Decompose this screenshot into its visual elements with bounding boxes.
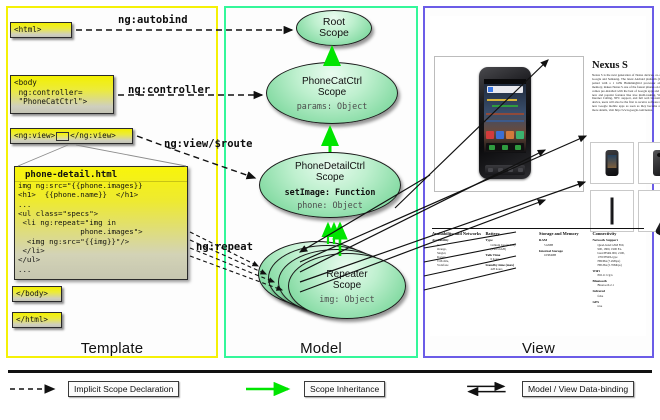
diagram-canvas: <html> <body ng:controller= "PhoneCatCtr… [0, 0, 660, 420]
legend-item-model-view-data-binding: Model / View Data-binding [462, 381, 634, 397]
view-slot-icon [56, 132, 69, 141]
edge-label-ng-view-route: ng:view/$route [164, 138, 253, 150]
scope-phonecatctrl-title-2: Scope [318, 87, 346, 98]
edge-label-ng-controller: ng:controller [128, 84, 210, 96]
double-arrow-icon [462, 382, 516, 396]
thumbnail-phone-back[interactable] [638, 142, 660, 184]
phone-dock [486, 143, 524, 151]
dashed-arrow-icon [8, 382, 62, 396]
green-arrow-icon [244, 382, 298, 396]
scope-phonedetailctrl-prop-phone: phone: Object [297, 200, 363, 210]
phone-screen-line-3 [486, 113, 524, 115]
scope-phonedetailctrl-title-2: Scope [316, 172, 344, 183]
scope-phonedetailctrl-title-1: PhoneDetailCtrl [295, 161, 365, 172]
specs-column-storage: Storage and Memory RAM 512MB Internal St… [539, 231, 591, 308]
ngview-open-tag: <ng:view> [14, 131, 55, 141]
scope-phonecatctrl-prop-params: params: Object [297, 101, 368, 111]
specs-table: Availability and Networks Availability 3… [432, 228, 644, 308]
phone-statusbar [484, 79, 526, 84]
specs-value: 6 hours [491, 257, 538, 261]
specs-header: Battery [486, 231, 538, 236]
specs-value: 512MB [544, 243, 591, 247]
rendered-view-page: Nexus S Nexus S is the next generation o… [430, 16, 646, 336]
phone-screen-line-1 [487, 99, 517, 101]
specs-header: Connectivity [593, 231, 645, 236]
code-box-body-open: <body ng:controller= "PhoneCatCtrl"> [10, 75, 114, 114]
code-box-body-close: </body> [12, 286, 62, 302]
thumbnail-list [590, 142, 660, 232]
column-title-model: Model [224, 340, 418, 357]
legend-item-scope-inheritance: Scope Inheritance [244, 381, 385, 397]
scope-repeater-title-1: Repeater [326, 269, 367, 280]
specs-header: Availability and Networks [432, 231, 484, 236]
phone-search-widget [487, 86, 523, 93]
scope-phonedetailctrl: PhoneDetailCtrl Scope setImage: Function… [259, 152, 401, 218]
specs-value: 428 hours [491, 267, 538, 271]
legend-label: Scope Inheritance [304, 381, 385, 397]
phone-hero-image-frame [434, 56, 584, 192]
code-box-html-close: </html> [12, 312, 62, 328]
scope-repeater: Repeater Scope img: Object [288, 253, 406, 319]
scope-root: Root Scope [296, 10, 372, 46]
code-box-ngview: <ng:view></ng:view> [10, 128, 133, 144]
phone-home-buttons [485, 165, 525, 175]
scope-phonedetailctrl-prop-setimage: setImage: Function [285, 187, 376, 197]
scope-phonecatctrl: PhoneCatCtrl Scope params: Object [266, 62, 398, 124]
thumbnail-phone-front[interactable] [590, 142, 634, 184]
scope-repeater-prop-img: img: Object [319, 294, 374, 304]
specs-divider [432, 228, 644, 229]
phone-app-icons [486, 131, 524, 141]
legend-item-implicit-scope-declaration: Implicit Scope Declaration [8, 381, 179, 397]
legend-label: Implicit Scope Declaration [68, 381, 179, 397]
edge-label-ng-repeat: ng:repeat [196, 241, 253, 253]
specs-column-battery: Battery Type Lithium Ion (Li-Ion) (1500 … [486, 231, 538, 308]
legend-divider [8, 370, 652, 373]
note-code: img ng:src="{{phone.images}} <h1> {{phon… [15, 181, 187, 274]
product-description: Nexus S is the next generation of Nexus … [592, 74, 660, 113]
phone-screen-line-4 [486, 120, 524, 122]
specs-value: Bluetooth 2.1 [598, 283, 645, 287]
specs-column-availability: Availability and Networks Availability 3… [432, 231, 484, 308]
scope-repeater-title-2: Scope [333, 280, 361, 291]
phone-screen [484, 79, 526, 153]
thumbnail-phone-tilted[interactable] [638, 190, 660, 232]
specs-value: 802.11 b/g/n [598, 273, 645, 277]
note-filename: phone-detail.html [15, 167, 187, 181]
code-box-html-open: <html> [10, 22, 72, 38]
specs-value: true [598, 304, 645, 308]
column-title-view: View [423, 340, 654, 357]
legend-label: Model / View Data-binding [522, 381, 634, 397]
ngview-close-tag: </ng:view> [70, 131, 116, 141]
scope-phonecatctrl-title-1: PhoneCatCtrl [302, 76, 362, 87]
specs-header: Storage and Memory [539, 231, 591, 236]
product-title: Nexus S [592, 60, 628, 71]
specs-value: Vodafone [437, 263, 484, 267]
specs-value: 16384MB [544, 253, 591, 257]
specs-value: (1500 mAH) [491, 247, 538, 251]
specs-value: HSUPA (5.76Mbps) [598, 263, 645, 267]
edge-label-ng-autobind: ng:autobind [118, 14, 188, 26]
scope-root-title-2: Scope [319, 28, 349, 39]
phone-detail-template-note: phone-detail.html img ng:src="{{phone.im… [14, 166, 188, 280]
column-title-template: Template [6, 340, 218, 357]
phone-hero-image [479, 67, 531, 179]
phone-screen-line-2 [492, 105, 518, 107]
thumbnail-phone-side[interactable] [590, 190, 634, 232]
specs-value: false [598, 294, 645, 298]
specs-column-connectivity: Connectivity Network Support Quad-band G… [593, 231, 645, 308]
